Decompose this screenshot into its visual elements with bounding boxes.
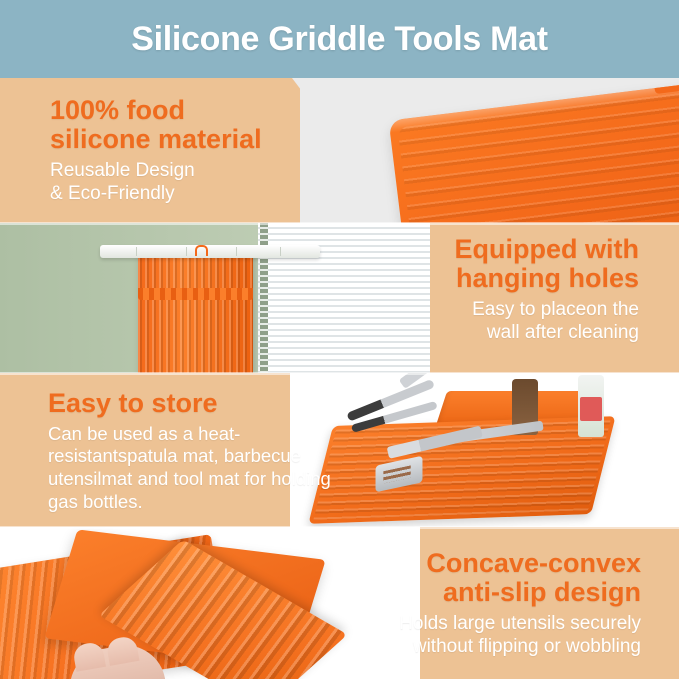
feature-body: Reusable Design & Eco-Friendly <box>50 159 262 205</box>
feature-image-anti-slip-design <box>0 527 420 679</box>
body-line-2: & Eco-Friendly <box>50 183 175 204</box>
feature-body: Can be used as a heat- resistantspatula … <box>48 423 368 513</box>
body-line-4: gas bottles. <box>48 491 143 512</box>
wall-rail <box>100 245 320 258</box>
mat-ribbed-lip <box>138 288 253 300</box>
panel-divider <box>0 222 679 225</box>
page-header: Silicone Griddle Tools Mat <box>0 0 679 78</box>
headline-line-2: anti-slip design <box>443 577 641 607</box>
feature-headline: 100% food silicone material <box>50 96 262 154</box>
product-infographic: Silicone Griddle Tools Mat 100% food sil… <box>0 0 679 679</box>
feature-panel-easy-to-store: Easy to store Can be used as a heat- res… <box>0 373 679 527</box>
rail-segment <box>186 247 187 256</box>
body-line-2: wall after cleaning <box>487 322 639 343</box>
feature-body: Easy to placeon the wall after cleaning <box>455 298 639 344</box>
headline-line-1: 100% food <box>50 95 185 125</box>
body-line-1: Reusable Design <box>50 160 195 181</box>
headline-line-1: Concave-convex <box>426 548 641 578</box>
body-line-3: utensilmat and tool mat for holding <box>48 468 331 489</box>
panel-divider <box>0 372 679 375</box>
body-line-2: resistantspatula mat, barbecue <box>48 445 301 466</box>
feature-panel-anti-slip-design: Concave-convex anti-slip design Holds la… <box>0 527 679 679</box>
rail-segment <box>136 247 137 256</box>
sauce-bottle <box>578 375 604 437</box>
headline-line-2: silicone material <box>50 124 262 154</box>
feature-text-easy-to-store: Easy to store Can be used as a heat- res… <box>48 389 368 513</box>
page-title: Silicone Griddle Tools Mat <box>131 20 548 59</box>
headline-line-2: hanging holes <box>456 263 639 293</box>
body-line-1: Easy to placeon the <box>472 299 639 320</box>
feature-panel-hanging-holes: Equipped with hanging holes Easy to plac… <box>0 223 679 373</box>
feature-text-anti-slip-design: Concave-convex anti-slip design Holds la… <box>399 549 641 658</box>
feature-headline: Equipped with hanging holes <box>455 235 639 293</box>
feature-body: Holds large utensils securely without fl… <box>399 612 641 658</box>
rail-segment <box>280 247 281 256</box>
body-line-1: Holds large utensils securely <box>399 613 641 634</box>
feature-headline: Concave-convex anti-slip design <box>399 549 641 607</box>
feature-image-food-safe-material <box>300 78 679 223</box>
feature-text-hanging-holes: Equipped with hanging holes Easy to plac… <box>455 235 639 344</box>
body-line-1: Can be used as a heat- <box>48 423 240 444</box>
silicone-mat-illustration <box>389 81 679 223</box>
hanging-mat-illustration <box>138 251 253 373</box>
hanging-hook-icon <box>195 245 208 256</box>
feature-text-food-safe-material: 100% food silicone material Reusable Des… <box>50 96 262 205</box>
headline-line-1: Equipped with <box>455 234 639 264</box>
mat-hanging-tab <box>654 81 679 94</box>
rail-segment <box>236 247 237 256</box>
panel-divider <box>0 526 679 529</box>
body-line-2: without flipping or wobbling <box>413 636 641 657</box>
feature-image-hanging-holes <box>0 223 430 373</box>
feature-panel-food-safe-material: 100% food silicone material Reusable Des… <box>0 78 679 223</box>
feature-headline: Easy to store <box>48 389 368 418</box>
